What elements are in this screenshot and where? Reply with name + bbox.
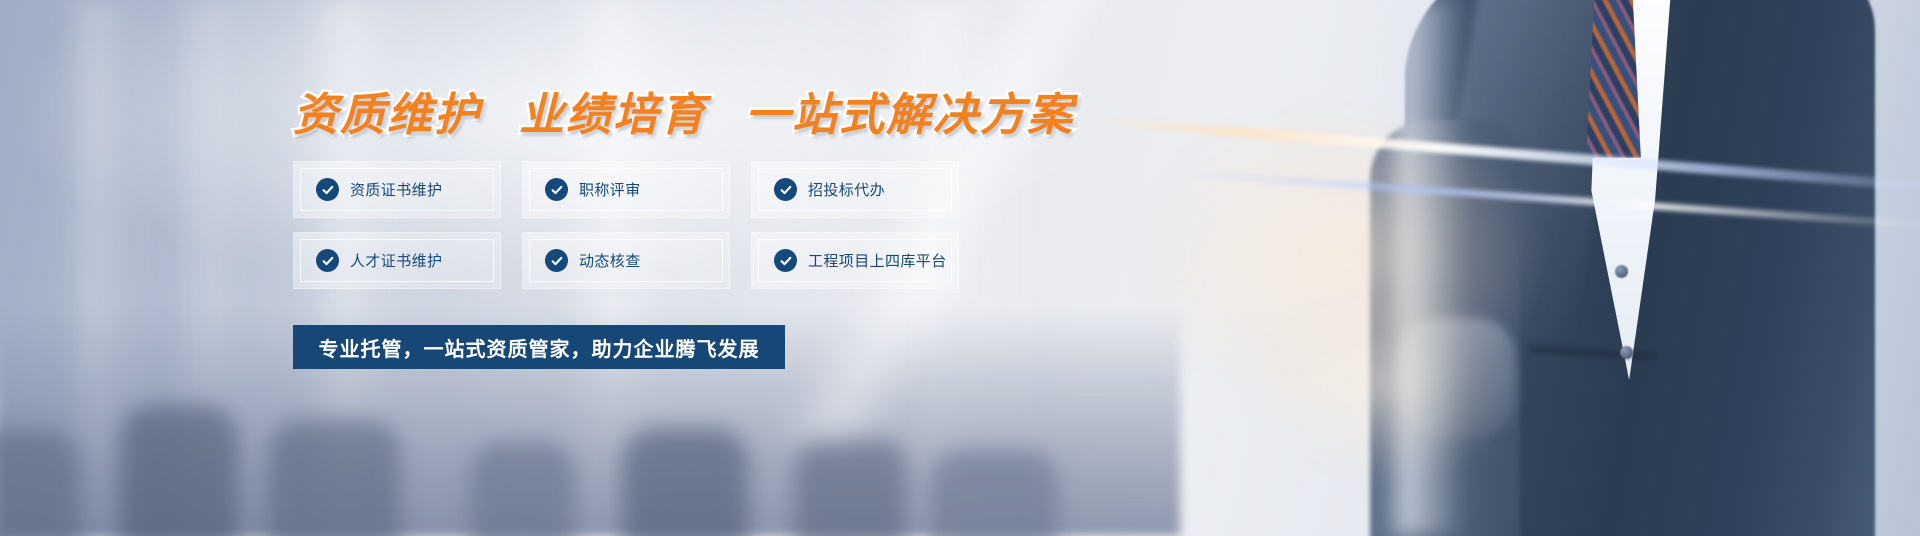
service-card-talent-certificate-maintenance[interactable]: 人才证书维护	[293, 232, 501, 289]
check-circle-icon	[545, 249, 568, 272]
service-card-bidding-agency[interactable]: 招投标代办	[751, 161, 959, 218]
headline-part-2: 业绩培育	[519, 78, 707, 143]
service-card-label: 职称评审	[579, 179, 641, 200]
check-circle-icon	[316, 178, 339, 201]
service-card-title-review[interactable]: 职称评审	[522, 161, 730, 218]
slogan-bar: 专业托管，一站式资质管家，助力企业腾飞发展	[293, 325, 785, 369]
check-circle-icon	[316, 249, 339, 272]
service-card-grid: 资质证书维护 职称评审 招投标代办	[293, 161, 959, 289]
service-card-label: 工程项目上四库平台	[808, 250, 947, 271]
banner-headline: 资质维护 业绩培育 一站式解决方案	[293, 78, 1074, 143]
check-circle-icon	[774, 249, 797, 272]
banner-content: 资质维护 业绩培育 一站式解决方案 资质证书维护 职称评审	[0, 0, 1920, 536]
service-card-label: 动态核查	[579, 250, 641, 271]
headline-part-3: 一站式解决方案	[745, 78, 1074, 143]
check-circle-icon	[545, 178, 568, 201]
service-card-label: 资质证书维护	[350, 179, 442, 200]
service-card-qualification-certificate-maintenance[interactable]: 资质证书维护	[293, 161, 501, 218]
service-card-label: 招投标代办	[808, 179, 885, 200]
headline-part-1: 资质维护	[293, 78, 481, 143]
service-card-dynamic-verification[interactable]: 动态核查	[522, 232, 730, 289]
hero-banner: 资质维护 业绩培育 一站式解决方案 资质证书维护 职称评审	[0, 0, 1920, 536]
service-card-label: 人才证书维护	[350, 250, 442, 271]
check-circle-icon	[774, 178, 797, 201]
service-card-project-four-database-platform[interactable]: 工程项目上四库平台	[751, 232, 959, 289]
slogan-text: 专业托管，一站式资质管家，助力企业腾飞发展	[319, 333, 760, 362]
